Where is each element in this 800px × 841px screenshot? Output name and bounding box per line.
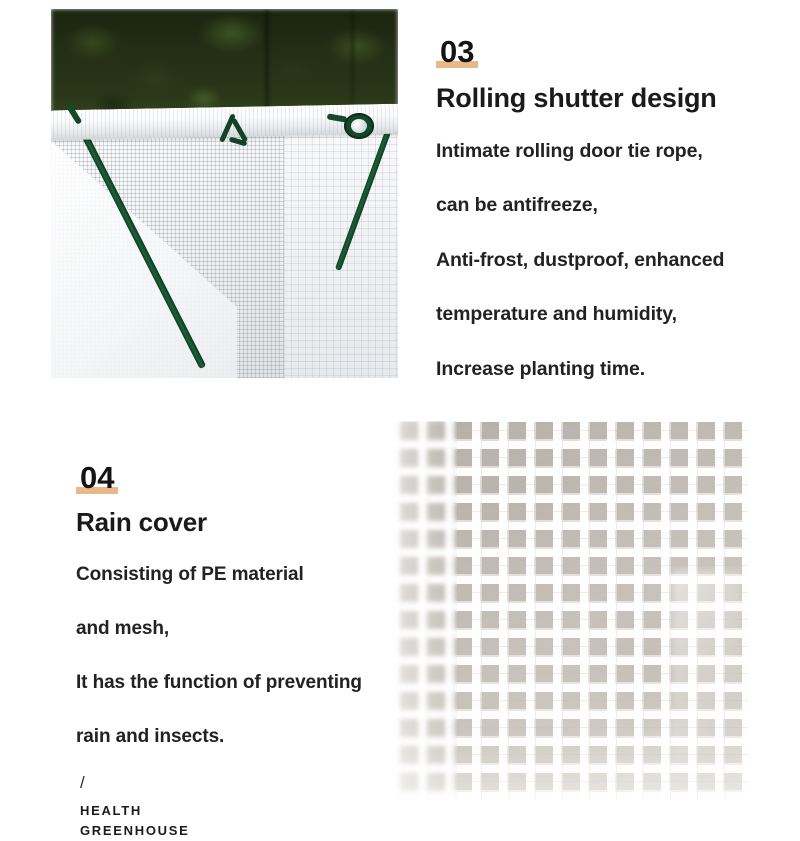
section-heading: Rolling shutter design: [436, 83, 776, 114]
body-line: Anti-frost, dustproof, enhanced: [436, 243, 776, 278]
tie-rope-tail: [229, 137, 248, 147]
brand-slash: /: [76, 773, 406, 793]
body-line: rain and insects.: [76, 719, 406, 754]
section-heading: Rain cover: [76, 508, 406, 538]
feature-block-04: 04 Rain cover Consisting of PE material …: [76, 462, 406, 841]
brand-footer: / HEALTH GREENHOUSE: [76, 773, 406, 841]
body-line: and mesh,: [76, 611, 406, 646]
body-line: temperature and humidity,: [436, 297, 776, 332]
mesh-highlight: [672, 571, 742, 800]
section-body: Intimate rolling door tie rope, can be a…: [436, 134, 776, 387]
foliage-stem: [265, 11, 269, 121]
section-body: Consisting of PE material and mesh, It h…: [76, 557, 406, 754]
body-line: can be antifreeze,: [436, 188, 776, 223]
rain-cover-mesh-photo: [391, 421, 748, 800]
body-line: It has the function of preventing: [76, 665, 406, 700]
rolling-shutter-photo: [51, 9, 398, 378]
feature-block-03: 03 Rolling shutter design Intimate rolli…: [436, 36, 776, 406]
product-feature-page: 03 Rolling shutter design Intimate rolli…: [0, 0, 800, 800]
tie-rope-knot: [221, 113, 251, 157]
body-line: Consisting of PE material: [76, 557, 406, 592]
body-line: Intimate rolling door tie rope,: [436, 134, 776, 169]
body-line: Increase planting time.: [436, 352, 776, 387]
section-number-badge-04: 04: [76, 462, 118, 495]
section-number-badge-03: 03: [436, 36, 478, 69]
section-number: 04: [80, 462, 114, 493]
brand-name-line-2: GREENHOUSE: [76, 821, 406, 841]
grommet-eyelet-icon: [344, 113, 374, 139]
brand-name-line-1: HEALTH: [76, 801, 406, 821]
section-number: 03: [440, 36, 474, 67]
